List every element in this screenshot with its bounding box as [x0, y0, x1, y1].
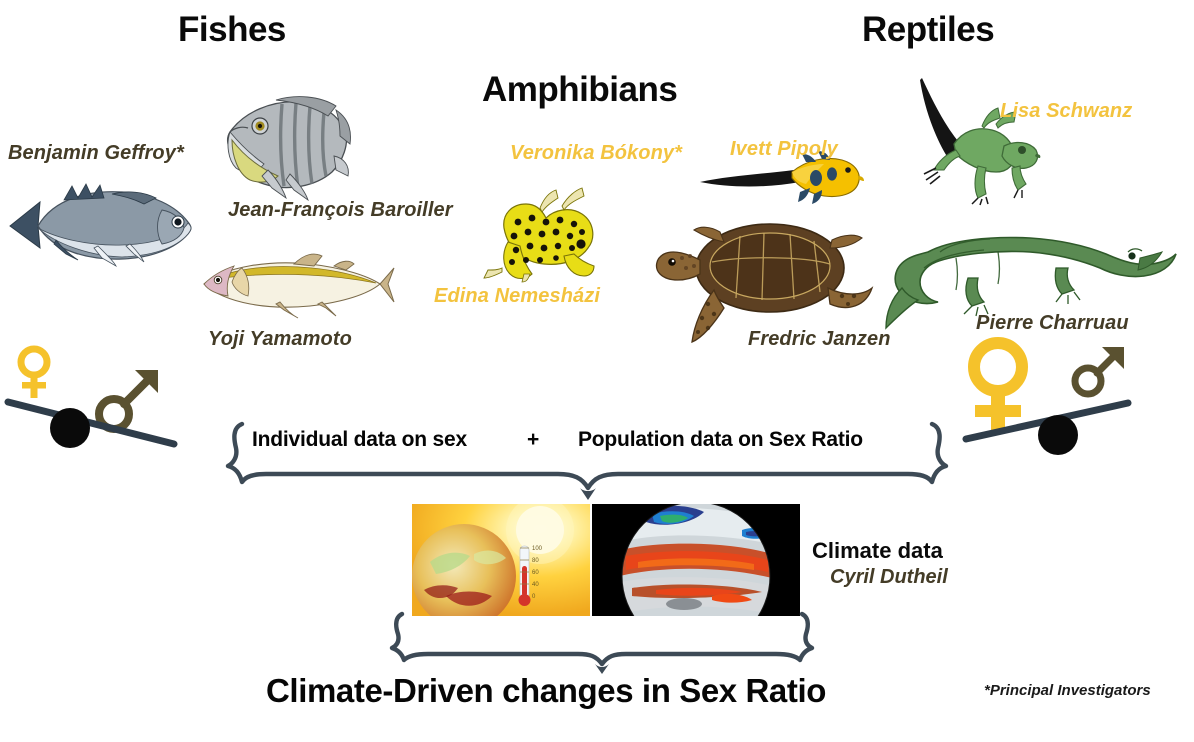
group-heading-amphibians: Amphibians — [482, 70, 677, 110]
svg-text:100: 100 — [532, 546, 543, 552]
spotted-frog-icon — [478, 188, 604, 282]
female-symbol-left — [21, 349, 47, 398]
sea-turtle-icon — [652, 216, 874, 344]
svg-text:60: 60 — [532, 570, 539, 576]
researcher-name-jean-francois-baroiller: Jean-François Baroiller — [228, 199, 453, 222]
male-symbol-right — [1075, 347, 1124, 394]
researcher-name-pierre-charruau: Pierre Charruau — [976, 312, 1129, 335]
researcher-name-edina-nemeshazi: Edina Nemesházi — [434, 285, 600, 308]
group-heading-reptiles: Reptiles — [862, 10, 994, 50]
principal-investigators-footnote: *Principal Investigators — [984, 682, 1151, 699]
researcher-name-yoji-yamamoto: Yoji Yamamoto — [208, 328, 352, 351]
researcher-name-veronika-bokony: Veronika Bókony* — [510, 142, 682, 165]
researcher-name-ivett-pipoly: Ivett Pipoly — [730, 138, 838, 161]
individual-data-label: Individual data on sex — [252, 428, 467, 452]
group-heading-fishes: Fishes — [178, 10, 286, 50]
sex-ratio-seesaw-left — [2, 340, 188, 450]
svg-text:40: 40 — [532, 582, 539, 588]
sea-bass-fish-icon — [0, 182, 202, 268]
climate-image-global-temperature-map — [592, 504, 800, 616]
female-symbol-right — [974, 343, 1022, 431]
climate-data-title: Climate data — [812, 538, 943, 564]
ayu-fish-icon — [182, 252, 396, 318]
plus-sign: + — [527, 428, 539, 452]
researcher-name-cyril-dutheil: Cyril Dutheil — [830, 566, 948, 589]
researcher-name-fredric-janzen: Fredric Janzen — [748, 328, 891, 351]
researcher-name-lisa-schwanz: Lisa Schwanz — [1000, 100, 1132, 123]
researcher-name-benjamin-geffroy: Benjamin Geffroy* — [8, 142, 184, 165]
population-data-label: Population data on Sex Ratio — [578, 428, 863, 452]
tilapia-fish-icon — [216, 88, 352, 200]
climate-brace — [392, 612, 812, 674]
sex-ratio-seesaw-right — [952, 335, 1138, 457]
green-lizard-icon — [900, 74, 1040, 204]
infographic-canvas: Fishes Amphibians Reptiles Benjamin Geff… — [0, 0, 1194, 742]
conclusion-title: Climate-Driven changes in Sex Ratio — [266, 672, 826, 710]
male-symbol-left — [99, 370, 158, 429]
climate-image-warming-earth: 10080 60400 — [412, 504, 590, 616]
svg-text:80: 80 — [532, 558, 539, 564]
